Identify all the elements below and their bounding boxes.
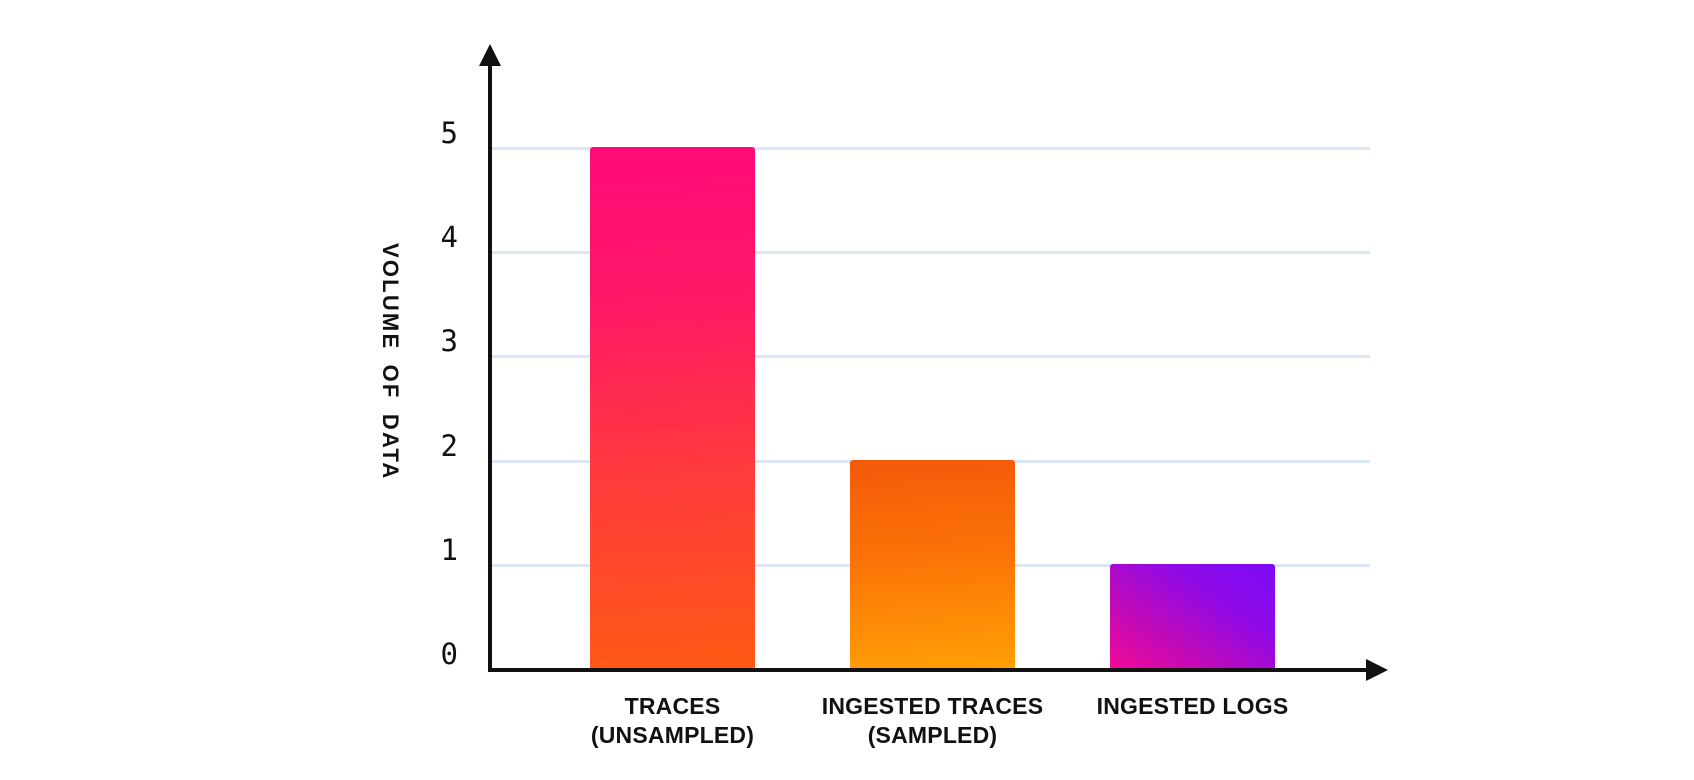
category-label-line1: TRACES xyxy=(542,692,803,721)
bar-ingested-logs xyxy=(1110,564,1275,670)
bar-ingested-traces-sampled xyxy=(850,460,1015,670)
x-axis-line xyxy=(488,668,1368,672)
category-label-traces-unsampled: TRACES (UNSAMPLED) xyxy=(542,692,803,751)
y-tick-label-3: 3 xyxy=(398,327,458,356)
y-axis-title: VOLUME OF DATA xyxy=(379,243,401,481)
category-label-line1: INGESTED LOGS xyxy=(1060,692,1325,721)
x-axis-arrow-icon xyxy=(1366,659,1388,681)
y-tick-label-1: 1 xyxy=(398,536,458,565)
y-tick-label-0: 0 xyxy=(398,640,458,669)
y-tick-label-5: 5 xyxy=(398,119,458,148)
bar-traces-unsampled xyxy=(590,147,755,670)
category-label-ingested-traces-sampled: INGESTED TRACES (SAMPLED) xyxy=(795,692,1070,751)
y-tick-label-2: 2 xyxy=(398,432,458,461)
category-label-line2: (SAMPLED) xyxy=(795,721,1070,750)
y-tick-label-4: 4 xyxy=(398,223,458,252)
y-axis-arrow-icon xyxy=(479,44,501,66)
category-label-ingested-logs: INGESTED LOGS xyxy=(1060,692,1325,721)
category-label-line2: (UNSAMPLED) xyxy=(542,721,803,750)
category-label-line1: INGESTED TRACES xyxy=(795,692,1070,721)
y-axis-line xyxy=(488,62,492,672)
bar-chart: 0 1 2 3 4 5 VOLUME OF DATA TRACES (UNSAM… xyxy=(0,0,1694,780)
